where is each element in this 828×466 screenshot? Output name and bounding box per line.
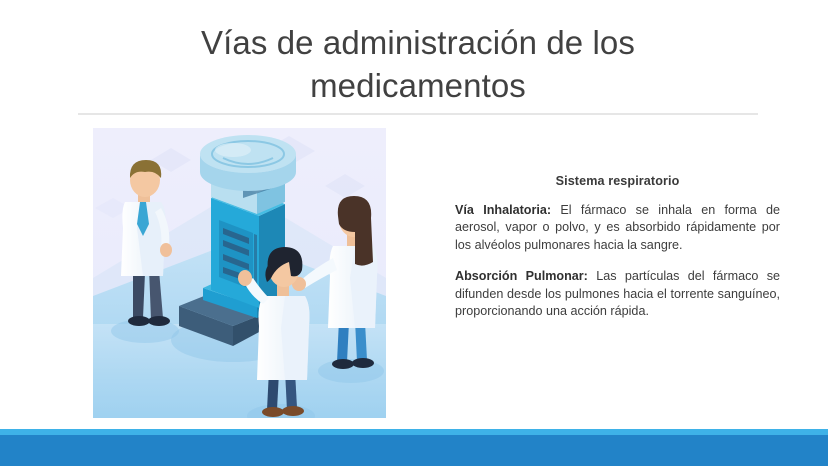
footer-accent-main-band [0,435,828,466]
device-cap-highlight [215,143,251,157]
center-figure-shoe-front [282,406,304,416]
paragraph-lead-label: Absorción Pulmonar: [455,269,588,283]
center-figure-shoe-back [262,407,284,417]
slide-canvas: Vías de administración de los medicament… [0,0,828,466]
illustration-inhaler-scene [93,128,386,418]
section-heading: Sistema respiratorio [455,174,780,188]
right-figure-shoe-front [352,358,374,368]
left-figure-shoe-back [128,316,150,326]
paragraph-lead-label: Vía Inhalatoria: [455,203,551,217]
page-title: Vías de administración de los medicament… [78,22,758,108]
isometric-scene-svg [93,128,386,418]
left-figure-hand [160,243,172,257]
left-figure-shoe-front [148,316,170,326]
right-figure-shoe-back [332,359,354,369]
body-text-column: Sistema respiratorio Vía Inhalatoria: El… [455,174,780,320]
title-divider [78,113,758,115]
paragraph-absorcion-pulmonar: Absorción Pulmonar: Las partículas del f… [455,268,780,320]
center-figure-coat-shade [281,296,310,380]
center-figure-hand [238,270,252,286]
paragraph-via-inhalatoria: Vía Inhalatoria: El fármaco se inhala en… [455,202,780,254]
page-title-text: Vías de administración de los medicament… [78,22,758,108]
